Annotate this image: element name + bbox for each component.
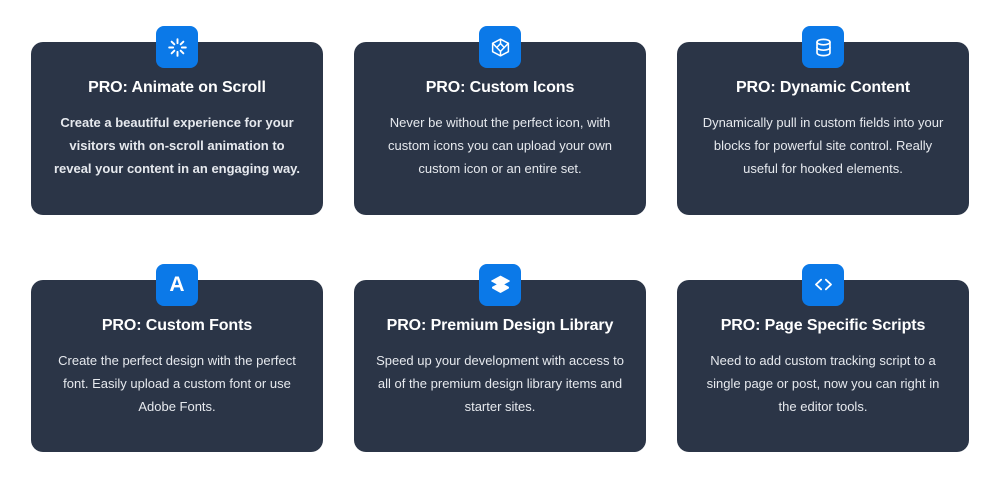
card-description: Never be without the perfect icon, with … xyxy=(374,111,626,180)
card-description: Speed up your development with access to… xyxy=(374,349,626,418)
database-icon xyxy=(802,26,844,68)
card-description: Dynamically pull in custom fields into y… xyxy=(697,111,949,180)
spinner-icon xyxy=(156,26,198,68)
card-title: PRO: Dynamic Content xyxy=(736,78,910,98)
feature-card[interactable]: PRO: Page Specific Scripts Need to add c… xyxy=(677,280,969,453)
code-brackets-icon xyxy=(802,264,844,306)
card-title: PRO: Premium Design Library xyxy=(387,316,614,336)
card-title: PRO: Custom Fonts xyxy=(102,316,252,336)
card-title: PRO: Page Specific Scripts xyxy=(721,316,926,336)
cube-icon xyxy=(479,26,521,68)
feature-card[interactable]: PRO: Premium Design Library Speed up you… xyxy=(354,280,646,453)
card-title: PRO: Custom Icons xyxy=(426,78,575,98)
letter-a-glyph: A xyxy=(169,274,184,295)
card-description: Create the perfect design with the perfe… xyxy=(51,349,303,418)
card-title: PRO: Animate on Scroll xyxy=(88,78,266,98)
feature-card-grid: PRO: Animate on Scroll Create a beautifu… xyxy=(0,0,1000,479)
letter-a-icon: A xyxy=(156,264,198,306)
layers-icon xyxy=(479,264,521,306)
feature-card[interactable]: A PRO: Custom Fonts Create the perfect d… xyxy=(31,280,323,453)
feature-card[interactable]: PRO: Custom Icons Never be without the p… xyxy=(354,42,646,215)
card-description: Need to add custom tracking script to a … xyxy=(697,349,949,418)
card-description: Create a beautiful experience for your v… xyxy=(51,111,303,180)
feature-card[interactable]: PRO: Animate on Scroll Create a beautifu… xyxy=(31,42,323,215)
feature-card[interactable]: PRO: Dynamic Content Dynamically pull in… xyxy=(677,42,969,215)
